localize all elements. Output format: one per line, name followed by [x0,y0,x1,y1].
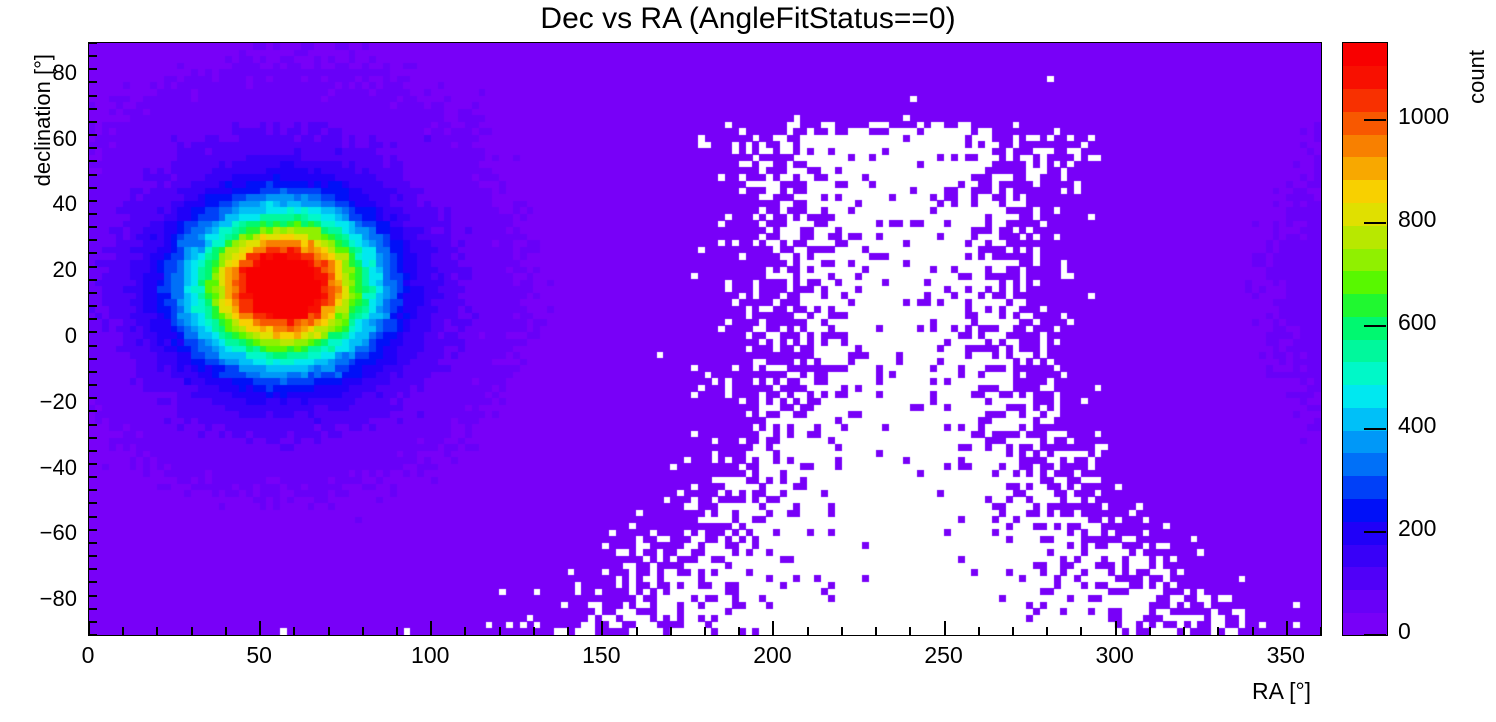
y-tick [89,239,97,241]
histogram-image [89,43,1321,635]
y-tick [89,595,97,597]
x-tick [1320,627,1322,635]
y-tick-label: −20 [0,389,77,415]
colorbar-tick [1364,634,1386,636]
x-tick-label: 0 [28,642,148,669]
x-tick [499,627,501,635]
x-tick [567,627,569,635]
colorbar-band [1343,248,1387,271]
colorbar-tick-label: 600 [1398,309,1436,336]
x-axis-title: RA [°] [1252,678,1311,705]
colorbar-band [1343,430,1387,453]
colorbar-band [1343,544,1387,567]
y-tick [89,581,97,583]
page-title: Dec vs RA (AngleFitStatus==0) [0,2,1496,36]
plot-frame [88,42,1322,636]
y-tick [89,252,97,254]
y-tick [89,121,97,123]
x-tick [1252,627,1254,635]
y-tick [89,476,97,478]
y-tick [89,502,97,504]
y-tick [89,160,97,162]
x-tick-label: 100 [370,642,490,669]
x-tick-label: 250 [884,642,1004,669]
x-tick [1217,627,1219,635]
colorbar-tick-label: 1000 [1398,103,1449,130]
y-tick [89,608,97,610]
y-tick [89,108,97,110]
colorbar-tick-label: 400 [1398,412,1436,439]
x-tick [1012,627,1014,635]
y-tick [89,384,97,386]
y-tick [89,371,97,373]
y-tick [89,542,97,544]
colorbar-band [1343,498,1387,521]
y-tick [89,424,97,426]
y-tick [89,621,97,623]
x-tick-label: 350 [1226,642,1346,669]
colorbar-band [1343,43,1387,66]
x-tick [1115,621,1117,635]
y-tick [89,147,97,149]
colorbar-band [1343,271,1387,294]
x-tick-label: 50 [199,642,319,669]
x-tick [396,627,398,635]
y-tick [89,450,97,452]
y-tick [89,358,97,360]
y-tick [89,134,97,136]
colorbar-band [1343,453,1387,476]
y-tick [89,305,97,307]
x-tick [909,627,911,635]
colorbar-band [1343,66,1387,89]
y-tick [89,529,97,531]
y-tick [89,410,97,412]
y-tick [89,55,97,57]
y-tick-label: 0 [0,323,77,349]
y-tick-label: −80 [0,586,77,612]
y-tick [89,68,97,70]
colorbar-band [1343,89,1387,112]
y-tick [89,292,97,294]
x-tick [670,627,672,635]
y-tick [89,213,97,215]
colorbar-band [1343,339,1387,362]
x-tick [841,627,843,635]
y-tick [89,266,97,268]
x-tick [1046,627,1048,635]
y-tick [89,81,97,83]
colorbar-band [1343,157,1387,180]
y-tick-label: −40 [0,455,77,481]
x-tick [328,627,330,635]
x-tick-label: 200 [712,642,832,669]
y-tick-label: −60 [0,520,77,546]
y-tick-label: 40 [0,191,77,217]
y-tick [89,516,97,518]
x-tick [533,627,535,635]
y-tick [89,634,97,636]
y-tick [89,489,97,491]
colorbar-tick-label: 0 [1398,618,1411,645]
x-tick [156,627,158,635]
y-tick [89,318,97,320]
x-tick-label: 150 [541,642,661,669]
y-tick [89,397,97,399]
x-tick [191,627,193,635]
x-tick [430,621,432,635]
y-tick [89,555,97,557]
colorbar-band [1343,111,1387,134]
y-tick [89,174,97,176]
x-tick [636,627,638,635]
colorbar-band [1343,362,1387,385]
colorbar-band [1343,476,1387,499]
colorbar-band [1343,567,1387,590]
colorbar-band [1343,225,1387,248]
y-tick [89,42,97,44]
colorbar-band [1343,134,1387,157]
colorbar-band [1343,589,1387,612]
x-tick [122,627,124,635]
y-tick-label: 20 [0,257,77,283]
x-tick [601,621,603,635]
y-tick [89,437,97,439]
x-tick [944,621,946,635]
x-tick [225,627,227,635]
y-tick [89,568,97,570]
x-tick [772,621,774,635]
y-tick [89,345,97,347]
x-tick [1080,627,1082,635]
y-tick [89,331,97,333]
colorbar-tick [1364,119,1386,121]
colorbar [1342,42,1388,636]
y-axis-title: declination [°] [30,54,56,186]
colorbar-title: count [1464,50,1490,104]
y-tick [89,226,97,228]
y-tick [89,187,97,189]
x-tick [738,627,740,635]
x-tick [1183,627,1185,635]
y-tick [89,95,97,97]
x-tick [1286,621,1288,635]
x-tick [362,627,364,635]
x-tick [807,627,809,635]
x-tick-label: 300 [1055,642,1175,669]
x-tick [88,621,90,635]
x-tick [704,627,706,635]
x-tick [259,621,261,635]
y-tick [89,279,97,281]
y-tick [89,463,97,465]
x-tick [1149,627,1151,635]
y-tick [89,200,97,202]
x-tick [293,627,295,635]
colorbar-band [1343,180,1387,203]
colorbar-tick [1364,222,1386,224]
x-tick [875,627,877,635]
colorbar-band [1343,612,1387,635]
colorbar-tick-label: 800 [1398,206,1436,233]
colorbar-tick [1364,531,1386,533]
x-tick [464,627,466,635]
colorbar-tick-label: 200 [1398,515,1436,542]
colorbar-band [1343,385,1387,408]
colorbar-band [1343,293,1387,316]
x-tick [978,627,980,635]
colorbar-tick [1364,428,1386,430]
colorbar-band [1343,316,1387,339]
colorbar-tick [1364,325,1386,327]
plot-canvas: Dec vs RA (AngleFitStatus==0) 0501001502… [0,0,1496,722]
